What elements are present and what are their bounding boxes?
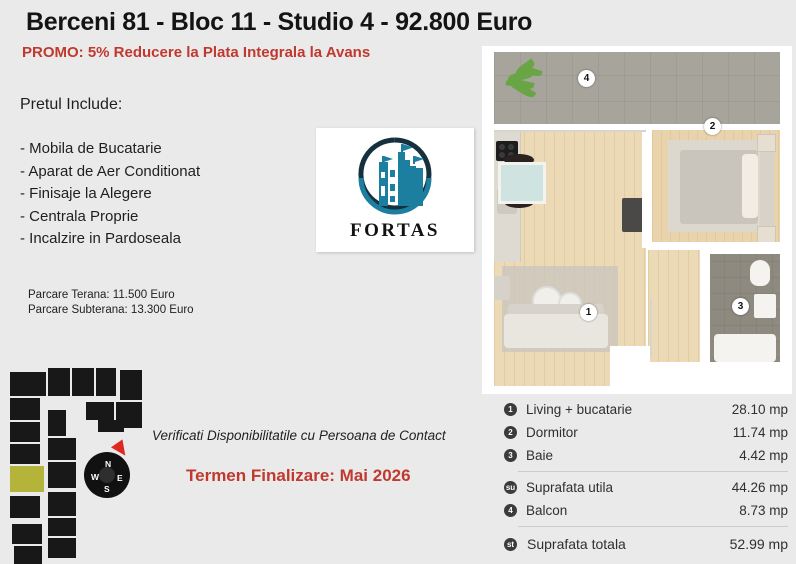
parking-prices: Parcare Terana: 11.500 Euro Parcare Subt… (28, 288, 194, 318)
room-badge: 2 (504, 426, 517, 439)
plant-icon (504, 62, 556, 102)
plan-marker-4: 4 (578, 70, 595, 87)
unit-block[interactable] (10, 398, 40, 420)
room-name: Suprafata totala (527, 536, 730, 552)
plan-marker-1: 1 (580, 304, 597, 321)
parking-underground: Parcare Subterana: 13.300 Euro (28, 303, 194, 318)
headboard-icon (760, 146, 774, 230)
unit-block[interactable] (48, 462, 76, 488)
list-item: - Aparat de Aer Conditionat (20, 161, 200, 184)
room-badge: st (504, 538, 517, 551)
room-badge: 1 (504, 403, 517, 416)
room-area: 44.26 mp (732, 480, 788, 495)
table-row: su Suprafata utila 44.26 mp (504, 476, 788, 499)
room-badge: su (504, 481, 517, 494)
parking-surface: Parcare Terana: 11.500 Euro (28, 288, 194, 303)
dining-table-icon (498, 162, 546, 204)
room-badge: 4 (504, 504, 517, 517)
compass-south-label: S (104, 484, 110, 494)
unit-block[interactable] (10, 496, 40, 518)
page-title: Berceni 81 - Bloc 11 - Studio 4 - 92.800… (26, 8, 532, 37)
unit-block[interactable] (10, 444, 40, 464)
unit-block[interactable] (48, 368, 70, 396)
table-row-total: st Suprafata totala 52.99 mp (504, 531, 788, 557)
unit-block[interactable] (10, 372, 46, 396)
compass-west-label: W (91, 472, 99, 482)
unit-block[interactable] (96, 368, 116, 396)
room-name: Baie (526, 448, 739, 463)
wall-divider (494, 130, 646, 132)
room-badge: 3 (504, 449, 517, 462)
compass-north-label: N (105, 459, 111, 469)
wall (482, 46, 792, 52)
unit-block[interactable] (12, 524, 42, 544)
unit-block[interactable] (98, 420, 124, 432)
wall (646, 362, 780, 372)
wall (642, 124, 652, 248)
room-area: 52.99 mp (730, 536, 788, 552)
unit-block[interactable] (48, 492, 76, 516)
room-name: Suprafata utila (526, 480, 732, 495)
compass-east-label: E (117, 473, 123, 483)
table-row: 4 Balcon 8.73 mp (504, 499, 788, 522)
includes-heading: Pretul Include: (20, 96, 122, 114)
unit-block[interactable] (10, 422, 40, 442)
plan-marker-3: 3 (732, 298, 749, 315)
wall (482, 46, 494, 394)
floor-plan-canvas: 4 2 1 3 (482, 46, 792, 394)
company-logo: FORTAS (316, 128, 474, 252)
logo-wordmark: FORTAS (316, 220, 474, 242)
compass-hub (99, 467, 115, 483)
room-name: Living + bucatarie (526, 402, 732, 417)
list-item: - Finisaje la Alegere (20, 183, 200, 206)
plan-marker-2: 2 (704, 118, 721, 135)
wall (610, 346, 650, 376)
includes-list: - Mobila de Bucatarie - Aparat de Aer Co… (20, 138, 200, 251)
pillow-icon (742, 154, 758, 218)
completion-deadline: Termen Finalizare: Mai 2026 (186, 466, 411, 486)
table-row: 3 Baie 4.42 mp (504, 444, 788, 467)
wall (780, 46, 792, 394)
list-item: - Incalzire in Pardoseala (20, 228, 200, 251)
unit-block[interactable] (48, 518, 76, 536)
floor-plan[interactable]: 4 2 1 3 (482, 46, 792, 394)
room-name: Dormitor (526, 425, 733, 440)
table-row: 1 Living + bucatarie 28.10 mp (504, 398, 788, 421)
unit-block[interactable] (48, 538, 76, 558)
nightstand-icon (757, 134, 776, 152)
availability-note: Verificati Disponibilitatile cu Persoana… (152, 428, 446, 443)
list-item: - Centrala Proprie (20, 206, 200, 229)
hallway (648, 246, 706, 366)
legend-divider (518, 471, 788, 472)
toilet-icon (750, 260, 770, 286)
room-area: 4.42 mp (739, 448, 788, 463)
unit-block[interactable] (120, 370, 142, 400)
bathtub-icon (714, 334, 776, 362)
room-name: Balcon (526, 503, 739, 518)
room-area: 28.10 mp (732, 402, 788, 417)
unit-block[interactable] (48, 410, 66, 436)
bathroom-sink-icon (754, 294, 776, 318)
room-legend-table: 1 Living + bucatarie 28.10 mp 2 Dormitor… (504, 398, 788, 557)
wall-divider (650, 298, 652, 358)
unit-block-selected[interactable] (10, 466, 44, 492)
unit-block[interactable] (72, 368, 94, 396)
wall (646, 242, 780, 250)
compass-rose: N E S W (80, 442, 136, 498)
table-row: 2 Dormitor 11.74 mp (504, 421, 788, 444)
legend-divider (518, 526, 788, 527)
unit-block[interactable] (86, 402, 114, 420)
unit-block[interactable] (14, 546, 42, 564)
listing-page: Berceni 81 - Bloc 11 - Studio 4 - 92.800… (0, 0, 796, 563)
room-area: 8.73 mp (739, 503, 788, 518)
wall (700, 242, 710, 374)
list-item: - Mobila de Bucatarie (20, 138, 200, 161)
unit-block[interactable] (48, 438, 76, 460)
fortress-icon (343, 132, 447, 224)
promo-banner: PROMO: 5% Reducere la Plata Integrala la… (22, 44, 370, 61)
room-area: 11.74 mp (733, 425, 788, 440)
